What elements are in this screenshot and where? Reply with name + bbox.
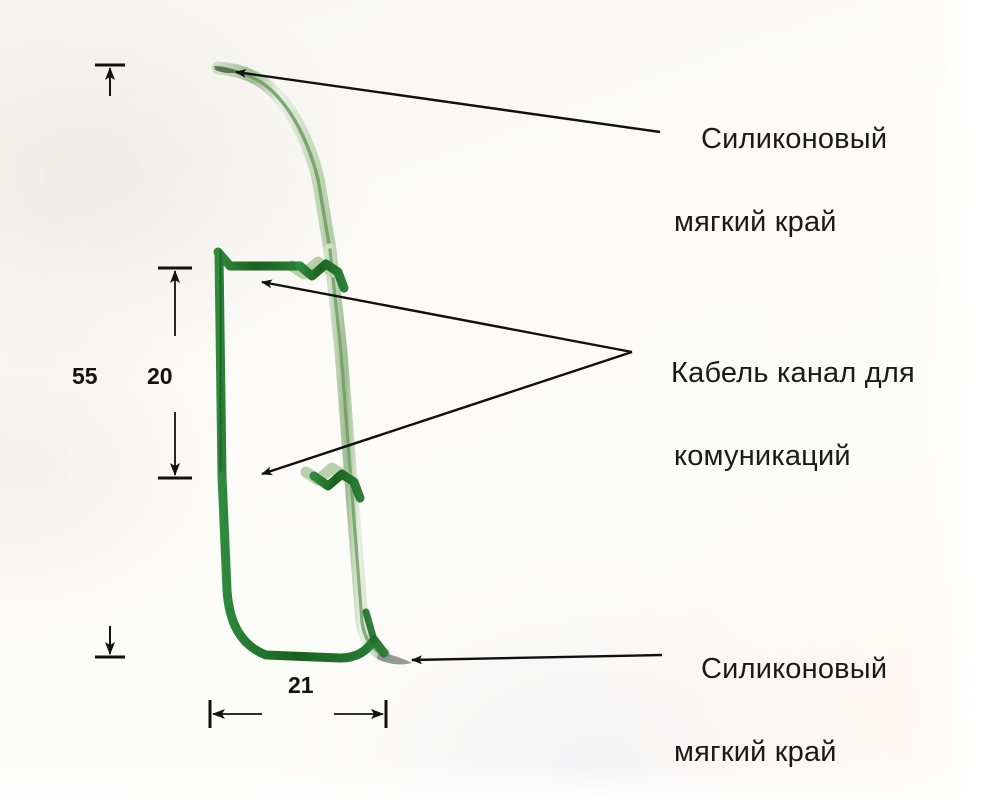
callout-label-top-silicone: Силиконовый мягкий край (668, 78, 887, 325)
callout-top-line2: мягкий край (668, 202, 887, 243)
callout-label-cable-channel: Кабель канал для комуникаций (638, 312, 915, 559)
leader-bottom-silicone (412, 655, 662, 660)
callout-cable-line2: комуникаций (638, 436, 915, 477)
callout-cable-line1: Кабель канал для (671, 357, 915, 389)
dimension-label-55: 55 (72, 363, 98, 390)
dimension-55 (95, 65, 125, 657)
profile-upper-chamber (218, 252, 300, 266)
callout-bottom-line1: Силиконовый (701, 653, 887, 685)
leader-cable-upper (262, 282, 632, 352)
leader-cable-lower (262, 352, 632, 474)
callout-top-line1: Силиконовый (701, 123, 887, 155)
diagram-canvas: Силиконовый мягкий край Кабель канал для… (0, 0, 1000, 800)
dimension-21 (210, 700, 386, 728)
dimension-label-21: 21 (288, 672, 314, 699)
silicone-strip-group (214, 66, 412, 664)
dimension-label-20: 20 (147, 363, 173, 390)
callout-label-bottom-silicone: Силиконовый мягкий край (668, 608, 887, 800)
callout-leaders (236, 72, 662, 660)
callout-bottom-line2: мягкий край (668, 732, 887, 773)
profile-left-wall-upper (219, 254, 222, 476)
